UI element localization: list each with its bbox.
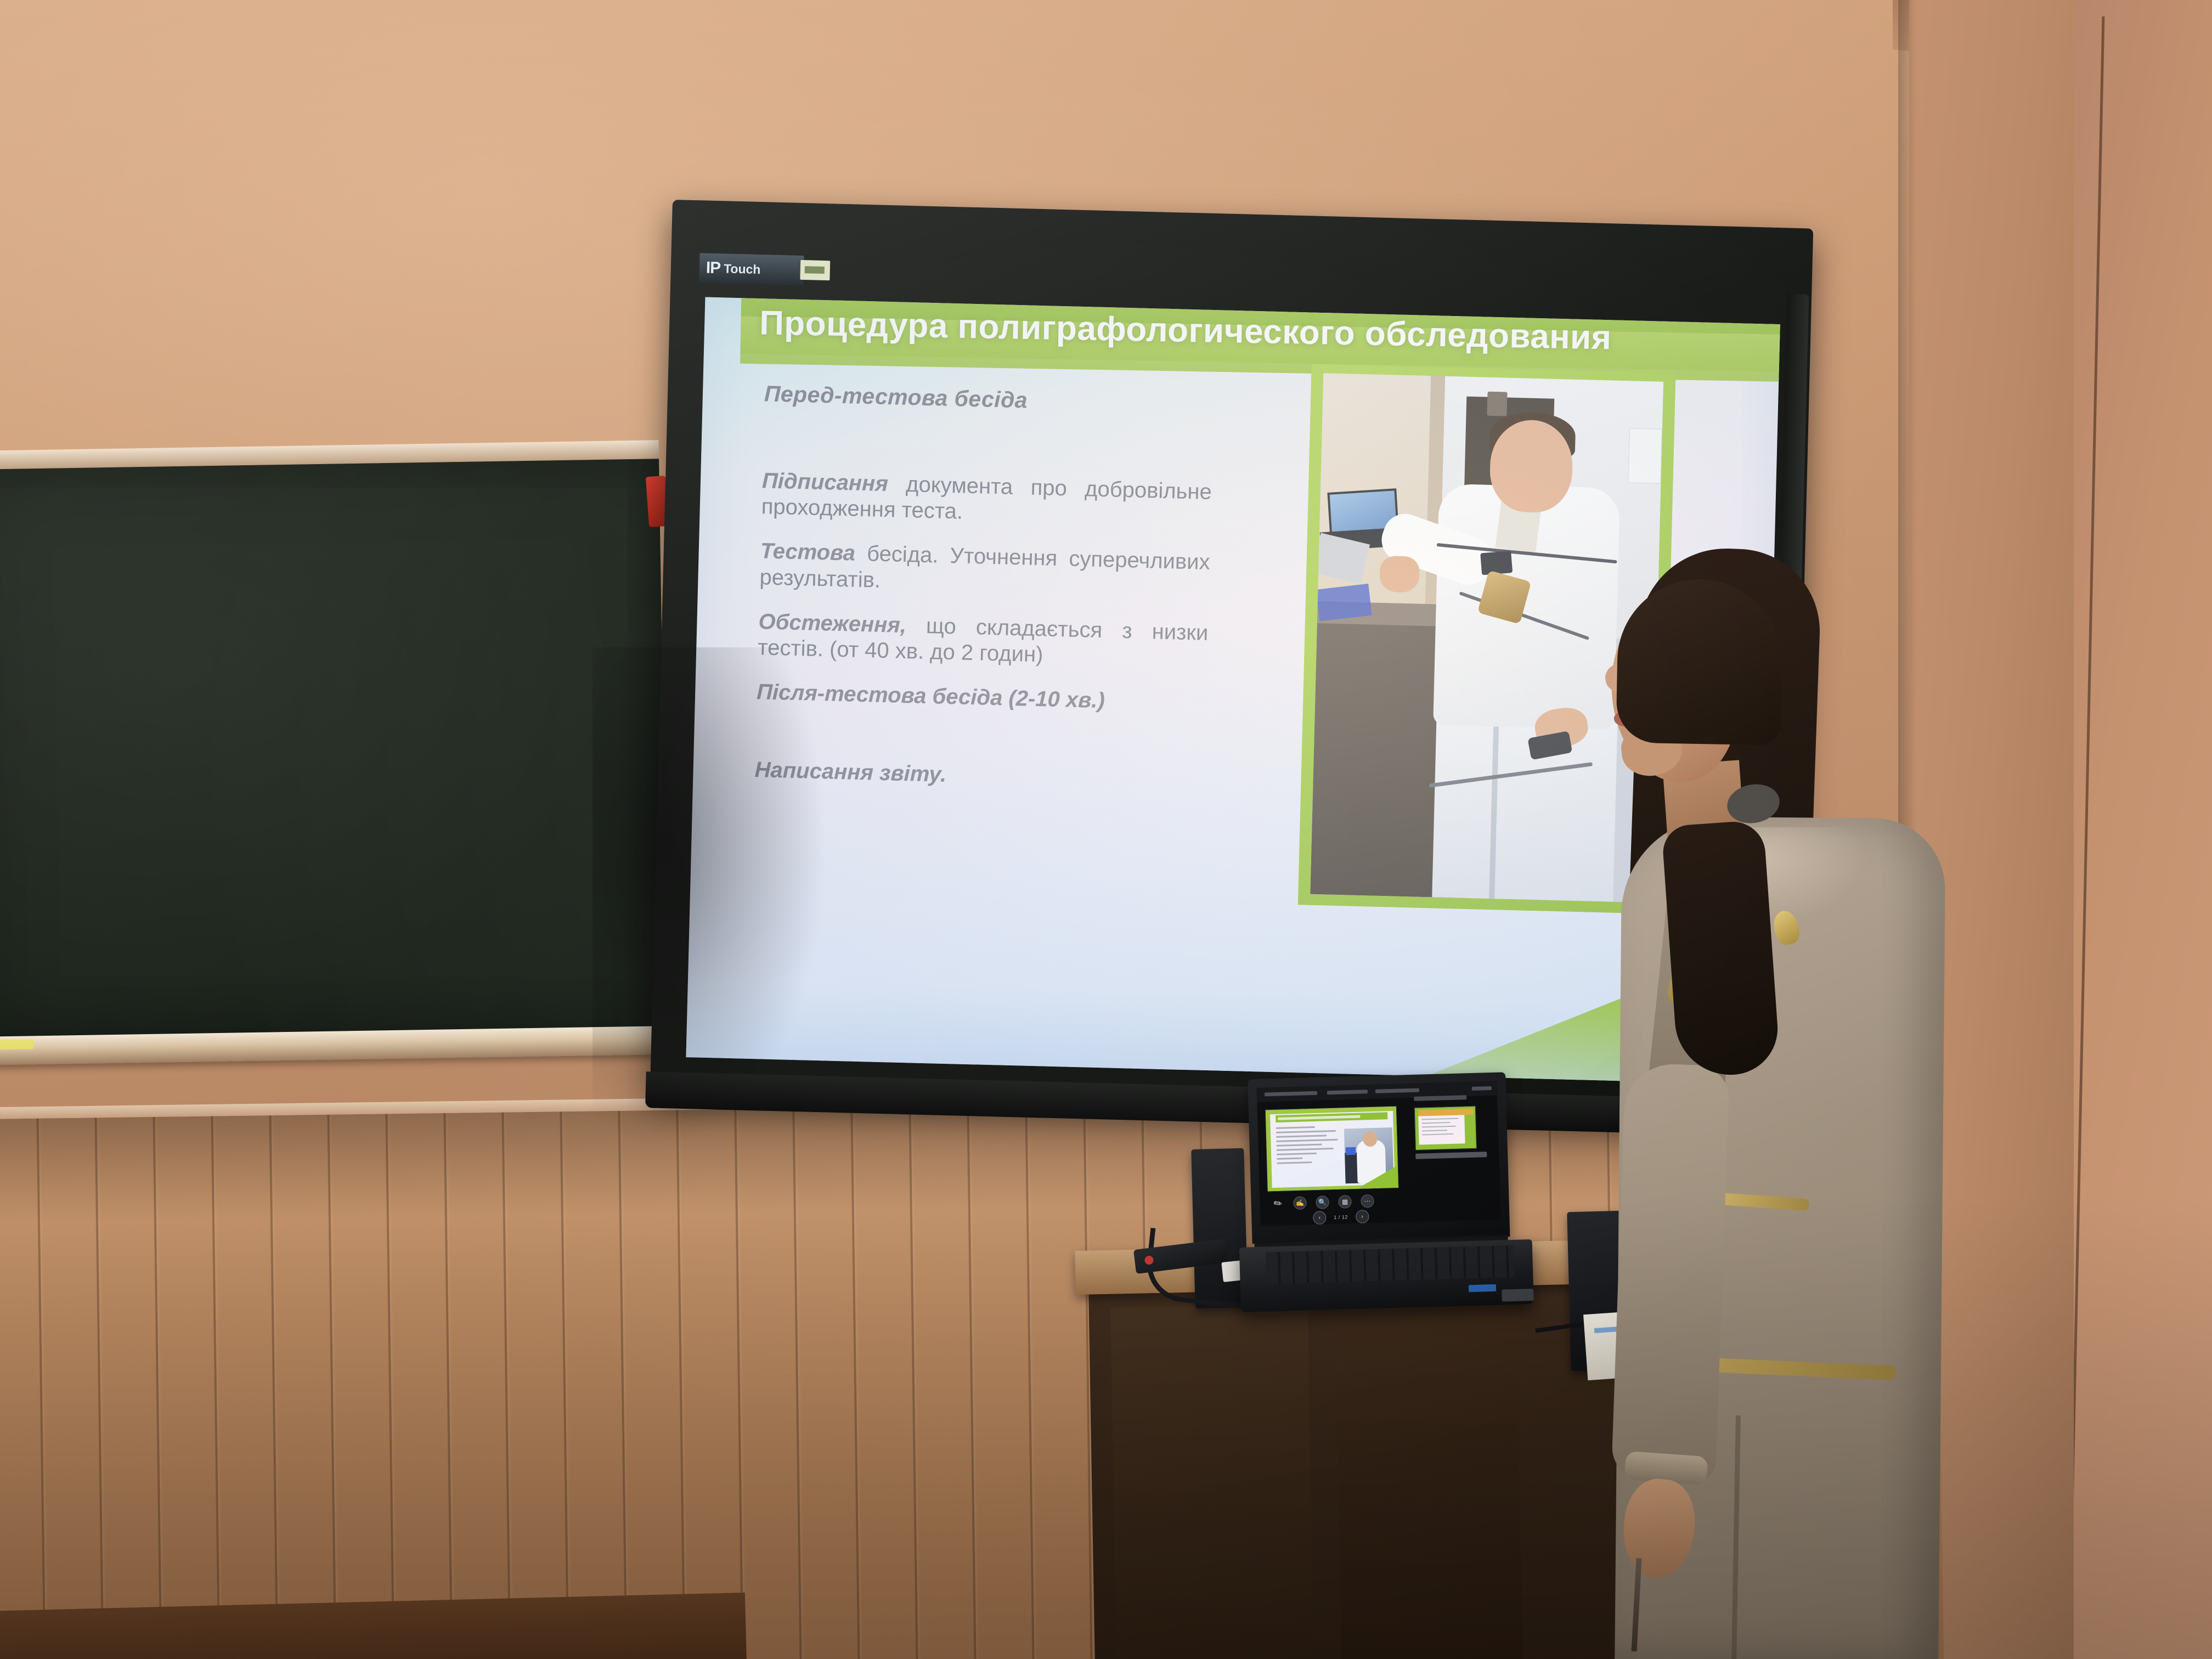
all-slides-icon[interactable]: ▦ [1338, 1195, 1352, 1209]
slide-paragraph: Тестова бесіда. Уточнення суперечливих р… [759, 539, 1210, 602]
preview-slide-body [1270, 1111, 1395, 1188]
next-preview-body [1418, 1115, 1465, 1144]
chalkboard [0, 455, 669, 1091]
presenter-nav-bar[interactable]: ‹ 1 / 12 › [1313, 1210, 1369, 1224]
presenter-current-slide-preview[interactable] [1265, 1106, 1399, 1192]
desk-panel-right [1335, 1300, 1523, 1659]
toolbar-window-controls[interactable] [1472, 1086, 1492, 1091]
pen-icon[interactable]: ✎ [1269, 1195, 1286, 1212]
preview-photo-screen [1346, 1147, 1356, 1155]
toolbar-item[interactable] [1327, 1090, 1368, 1094]
chalk-piece [0, 1039, 34, 1049]
photo-wall-paper [1628, 428, 1662, 483]
preview-text-lines [1276, 1126, 1342, 1167]
highlighter-icon[interactable]: ✍ [1293, 1196, 1307, 1210]
laptop-lid: ✎ ✍ 🔍 ▦ ⋯ ‹ 1 / 12 › [1248, 1072, 1510, 1244]
laptop-port [1502, 1289, 1534, 1302]
classroom-photo-scene: IP Touch Процедура полиграфологического … [0, 0, 2212, 1659]
next-slide-caption [1414, 1095, 1466, 1101]
more-options-icon[interactable]: ⋯ [1361, 1194, 1374, 1208]
brand-suffix-text: Touch [724, 261, 761, 277]
photo-blue-cloth [1316, 584, 1372, 622]
slide-body: Перед-тестова бесіда Підписання документ… [754, 381, 1214, 794]
presenter-laptop[interactable]: ✎ ✍ 🔍 ▦ ⋯ ‹ 1 / 12 › [1248, 1071, 1539, 1310]
photo-subject-hand [1379, 556, 1420, 593]
laptop-brand-badge [1469, 1284, 1496, 1292]
wall-recess [2073, 0, 2212, 1659]
desk-panel-left [1110, 1304, 1314, 1659]
slide-paragraph: Підписання документа про добровільне про… [761, 468, 1212, 531]
presenter [1553, 527, 2008, 1659]
preview-title-bar [1276, 1112, 1387, 1122]
presenter-next-slide-preview[interactable] [1414, 1106, 1477, 1150]
laptop-screen[interactable]: ✎ ✍ 🔍 ▦ ⋯ ‹ 1 / 12 › [1257, 1081, 1501, 1226]
paragraph-emphasis: Обстеження, [758, 610, 907, 637]
slide-counter: 1 / 12 [1334, 1214, 1348, 1220]
toolbar-item[interactable] [1375, 1088, 1419, 1093]
slide-paragraph: Після-тестова бесіда (2-10 хв.) [757, 679, 1207, 716]
presenter-arm [1611, 1063, 1730, 1483]
next-slide-label [1415, 1152, 1487, 1159]
zoom-icon[interactable]: 🔍 [1316, 1195, 1329, 1209]
slide-lead-text: Перед-тестова бесіда [764, 381, 1214, 418]
toolbar-item[interactable] [1265, 1091, 1317, 1097]
brand-prefix-text: IP [706, 259, 720, 278]
slide-paragraph: Обстеження, що складається з низки тесті… [758, 609, 1209, 672]
paragraph-emphasis: Після-тестова [757, 680, 927, 708]
next-slide-icon[interactable]: › [1356, 1210, 1369, 1223]
paragraph-emphasis: Підписання [761, 469, 888, 496]
whiteboard-brand-logo: IP Touch [699, 253, 804, 285]
chalkboard-surface [0, 459, 668, 1040]
presenter-tools-bar[interactable]: ✎ ✍ 🔍 ▦ ⋯ [1272, 1194, 1374, 1210]
slide-tail-text: Написання звіту. [754, 758, 1205, 794]
presenter-hair-tail [1661, 820, 1781, 1079]
paragraph-emphasis: Тестова [760, 539, 855, 566]
photo-sensor-module [1480, 551, 1513, 575]
whiteboard-badge [800, 260, 830, 280]
previous-slide-icon[interactable]: ‹ [1313, 1211, 1327, 1224]
photo-cabinet-top [1487, 392, 1507, 416]
paragraph-rest: бесіда (2-10 хв.) [932, 684, 1105, 713]
